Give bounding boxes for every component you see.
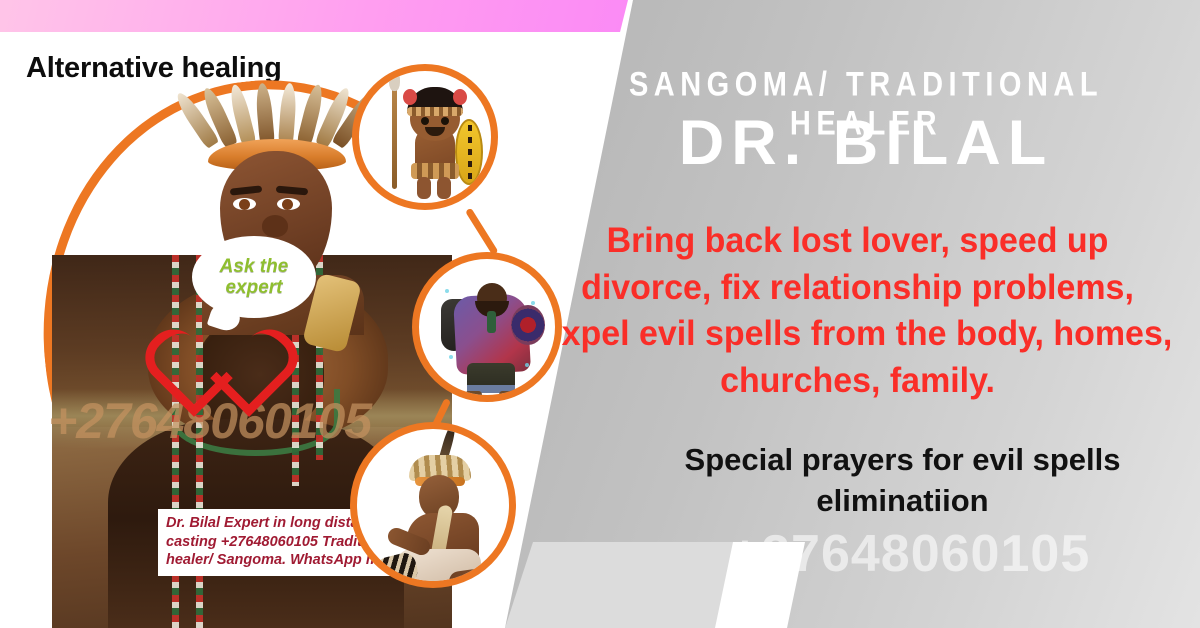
zulu-warrior-illustration (352, 64, 498, 210)
special-prayers-text: Special prayers for evil spells eliminat… (610, 440, 1195, 522)
sparkle-icon (531, 301, 535, 305)
diviner-foot (465, 391, 482, 398)
shield-icon (511, 305, 545, 345)
poster-canvas: Alternative healing +27648060105 Dr. Bil… (0, 0, 1200, 628)
photo-caption-line-3: healer/ Sangoma. WhatsApp me (166, 551, 398, 570)
sparkle-icon (449, 355, 453, 359)
phone-watermark: +27648060105 (620, 524, 1200, 584)
diviner-tie (487, 311, 496, 333)
spear-icon (392, 85, 397, 189)
healer-nose (262, 215, 288, 237)
healer-pupil (239, 199, 250, 210)
crouching-dancer-illustration (350, 422, 516, 588)
alternative-healing-heading: Alternative healing (26, 52, 282, 85)
sparkle-icon (445, 289, 449, 293)
warrior-skirt (411, 163, 459, 179)
diviner-trousers (467, 363, 515, 393)
healer-pupil (282, 199, 293, 210)
heart-icon (186, 333, 270, 409)
services-text: Bring back lost lover, speed up divorce,… (540, 218, 1175, 404)
diviner-foot (499, 391, 516, 398)
warrior-leg (437, 177, 451, 199)
warrior-eye (441, 117, 449, 125)
diviner-with-shield-illustration (412, 252, 562, 402)
brand-name: DR. BILAL (556, 112, 1176, 175)
ask-the-expert-label: Ask the expert (196, 256, 312, 299)
ask-the-expert-bubble: Ask the expert (196, 240, 312, 314)
warrior-headband (407, 107, 463, 116)
shield-icon (455, 119, 483, 185)
sparkle-icon (525, 363, 529, 367)
warrior-eye (421, 117, 429, 125)
top-pink-bar (0, 0, 630, 32)
warrior-leg (417, 177, 431, 199)
